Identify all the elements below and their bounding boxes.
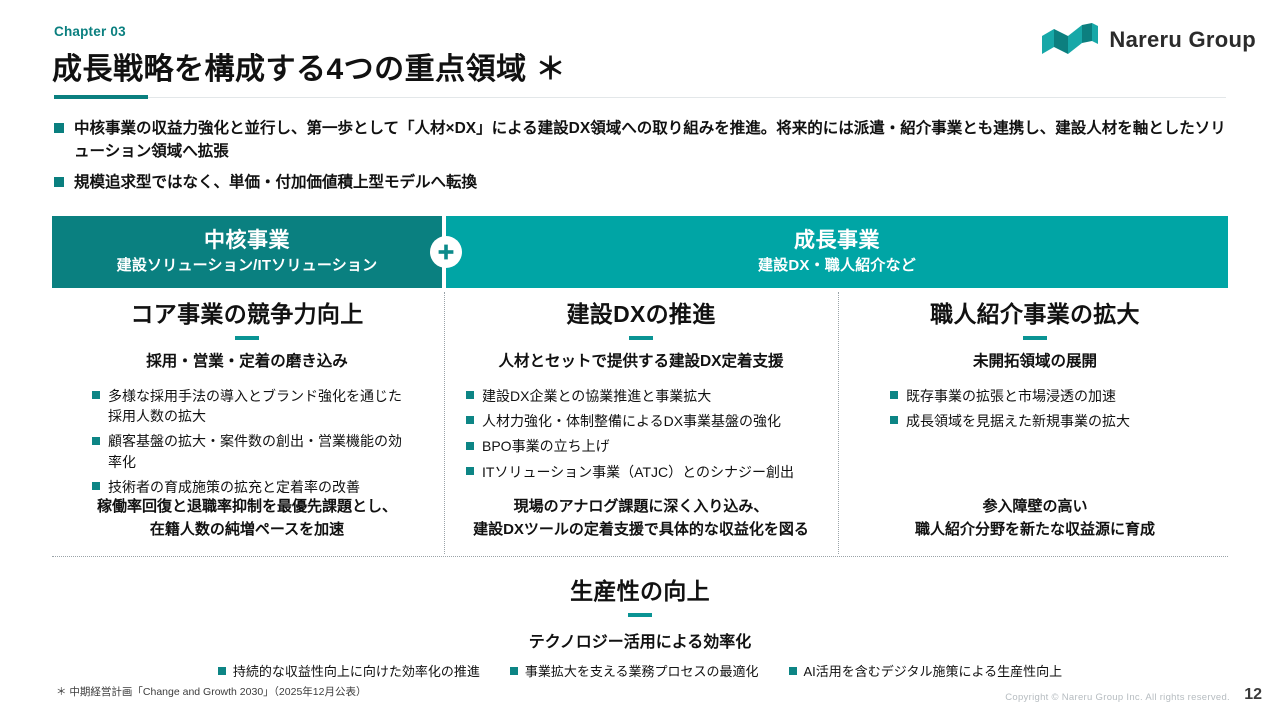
square-bullet-icon (466, 467, 474, 475)
list-item: BPO事業の立ち上げ (466, 436, 816, 456)
bottom-title: 生産性の向上 (52, 572, 1228, 606)
title-accent-rule (54, 95, 148, 99)
square-bullet-icon (54, 177, 64, 187)
slide-header: Chapter 03 成長戦略を構成する4つの重点領域 ＊ Nareru Gro… (0, 0, 1280, 104)
list-item: 事業拡大を支える業務プロセスの最適化 (510, 661, 759, 680)
page-number: 12 (1244, 686, 1262, 704)
logo-text: Nareru Group (1109, 27, 1256, 53)
band-growth-title: 成長事業 (794, 228, 880, 253)
band-growth-business: 成長事業 建設DX・職人紹介など (446, 216, 1228, 288)
square-bullet-icon (92, 437, 100, 445)
band-core-title: 中核事業 (204, 228, 290, 253)
band-core-subtitle: 建設ソリューション/ITソリューション (117, 255, 378, 276)
column-accent-dash (629, 336, 653, 340)
column-subtitle: 人材とセットで提供する建設DX定着支援 (448, 352, 834, 373)
nareru-zigzag-logo-icon (1042, 23, 1098, 57)
column-footer-text: 現場のアナログ課題に深く入り込み、建設DXツールの定着支援で具体的な収益化を図る (448, 496, 834, 541)
band-core-business: 中核事業 建設ソリューション/ITソリューション (52, 216, 442, 288)
page-title: 成長戦略を構成する4つの重点領域 ＊ (52, 44, 566, 88)
plus-connector-badge (430, 236, 462, 268)
column-title: 職人紹介事業の拡大 (842, 300, 1228, 329)
column-subtitle: 採用・営業・定着の磨き込み (52, 352, 442, 373)
column-divider-1 (444, 292, 445, 554)
band-growth-subtitle: 建設DX・職人紹介など (758, 255, 916, 276)
title-divider-rule (148, 97, 1226, 99)
column-item-list: 建設DX企業との協業推進と事業拡大 人材力強化・体制整備によるDX事業基盤の強化… (466, 386, 816, 487)
column-accent-dash (1023, 336, 1047, 340)
square-bullet-icon (510, 667, 518, 675)
list-item: 成長領域を見据えた新規事業の拡大 (890, 411, 1180, 431)
bottom-subtitle: テクノロジー活用による効率化 (52, 628, 1228, 652)
list-item-text: 人材力強化・体制整備によるDX事業基盤の強化 (482, 411, 781, 431)
lead-bullet-text: 中核事業の収益力強化と並行し、第一歩として「人材×DX」による建設DX領域への取… (74, 117, 1229, 164)
brand-logo: Nareru Group (1042, 20, 1256, 60)
list-item-text: ITソリューション事業（ATJC）とのシナジー創出 (482, 462, 794, 482)
list-item: 多様な採用手法の導入とブランド強化を通じた採用人数の拡大 (92, 386, 402, 427)
plus-icon (437, 243, 455, 261)
column-item-list: 多様な採用手法の導入とブランド強化を通じた採用人数の拡大 顧客基盤の拡大・案件数… (92, 386, 402, 502)
square-bullet-icon (466, 416, 474, 424)
list-item-text: 事業拡大を支える業務プロセスの最適化 (525, 661, 759, 680)
list-item-text: 成長領域を見据えた新規事業の拡大 (906, 411, 1130, 431)
list-item-text: 建設DX企業との協業推進と事業拡大 (482, 386, 711, 406)
list-item-text: 持続的な収益性向上に向けた効率化の推進 (233, 661, 480, 680)
footnote-text: ＊ 中期経営計画「Change and Growth 2030」（2025年12… (56, 684, 366, 699)
list-item: 持続的な収益性向上に向けた効率化の推進 (218, 661, 480, 680)
list-item: 既存事業の拡張と市場浸透の加速 (890, 386, 1180, 406)
lead-bullet-text: 規模追求型ではなく、単価・付加価値積上型モデルへ転換 (74, 171, 477, 194)
list-item-text: 技術者の育成施策の拡充と定着率の改善 (108, 477, 360, 497)
column-accent-dash (235, 336, 259, 340)
column-construction-dx: 建設DXの推進 人材とセットで提供する建設DX定着支援 建設DX企業との協業推進… (448, 300, 834, 487)
column-title: コア事業の競争力向上 (52, 300, 442, 329)
chapter-label: Chapter 03 (54, 24, 126, 39)
section-divider (52, 556, 1228, 557)
list-item-text: 顧客基盤の拡大・案件数の創出・営業機能の効率化 (108, 431, 402, 472)
list-item: AI活用を含むデジタル施策による生産性向上 (789, 661, 1063, 680)
column-title: 建設DXの推進 (448, 300, 834, 329)
list-item: 顧客基盤の拡大・案件数の創出・営業機能の効率化 (92, 431, 402, 472)
column-footer-text: 参入障壁の高い職人紹介分野を新たな収益源に育成 (842, 496, 1228, 541)
column-core-competitiveness: コア事業の競争力向上 採用・営業・定着の磨き込み 多様な採用手法の導入とブランド… (52, 300, 442, 502)
list-item: 人材力強化・体制整備によるDX事業基盤の強化 (466, 411, 816, 431)
column-subtitle: 未開拓領域の展開 (842, 352, 1228, 373)
list-item-text: 多様な採用手法の導入とブランド強化を通じた採用人数の拡大 (108, 386, 402, 427)
lead-bullet-list: 中核事業の収益力強化と並行し、第一歩として「人材×DX」による建設DX領域への取… (54, 117, 1229, 201)
list-item-text: BPO事業の立ち上げ (482, 436, 610, 456)
square-bullet-icon (218, 667, 226, 675)
column-craftsman-referral: 職人紹介事業の拡大 未開拓領域の展開 既存事業の拡張と市場浸透の加速 成長領域を… (842, 300, 1228, 436)
column-divider-2 (838, 292, 839, 554)
square-bullet-icon (789, 667, 797, 675)
square-bullet-icon (92, 391, 100, 399)
productivity-section: 生産性の向上 テクノロジー活用による効率化 持続的な収益性向上に向けた効率化の推… (52, 572, 1228, 680)
list-item: 建設DX企業との協業推進と事業拡大 (466, 386, 816, 406)
bottom-item-list: 持続的な収益性向上に向けた効率化の推進 事業拡大を支える業務プロセスの最適化 A… (52, 661, 1228, 680)
list-item-text: AI活用を含むデジタル施策による生産性向上 (804, 661, 1063, 680)
bottom-accent-dash (628, 613, 652, 617)
square-bullet-icon (92, 482, 100, 490)
list-item-text: 既存事業の拡張と市場浸透の加速 (906, 386, 1116, 406)
lead-bullet-item: 規模追求型ではなく、単価・付加価値積上型モデルへ転換 (54, 171, 1229, 194)
column-footer-text: 稼働率回復と退職率抑制を最優先課題とし、在籍人数の純増ペースを加速 (52, 496, 442, 541)
list-item: ITソリューション事業（ATJC）とのシナジー創出 (466, 462, 816, 482)
copyright-text: Copyright © Nareru Group Inc. All rights… (1005, 692, 1230, 703)
square-bullet-icon (890, 391, 898, 399)
square-bullet-icon (54, 123, 64, 133)
square-bullet-icon (466, 391, 474, 399)
square-bullet-icon (466, 442, 474, 450)
column-item-list: 既存事業の拡張と市場浸透の加速 成長領域を見据えた新規事業の拡大 (890, 386, 1180, 437)
square-bullet-icon (890, 416, 898, 424)
lead-bullet-item: 中核事業の収益力強化と並行し、第一歩として「人材×DX」による建設DX領域への取… (54, 117, 1229, 164)
list-item: 技術者の育成施策の拡充と定着率の改善 (92, 477, 402, 497)
